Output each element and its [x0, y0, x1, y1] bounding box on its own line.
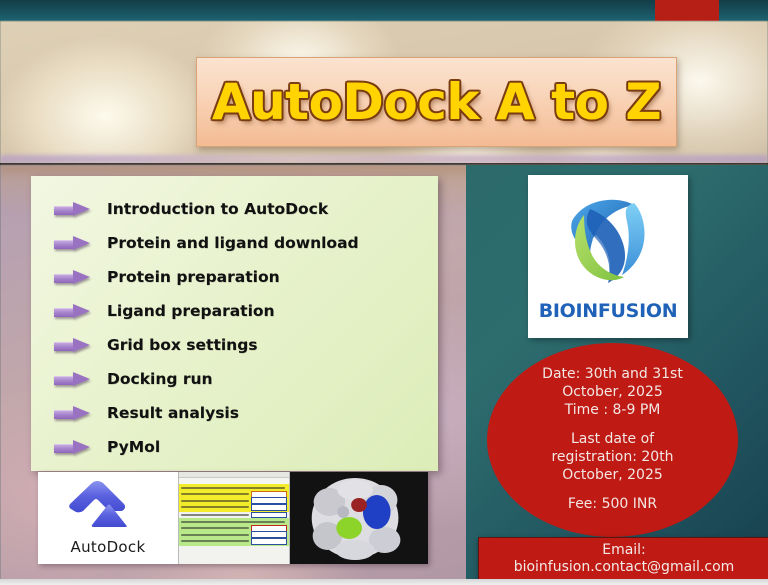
bioinfusion-wordmark: BIOINFUSION: [528, 300, 688, 322]
arrow-right-icon: [54, 202, 90, 217]
list-item: Ligand preparation: [31, 294, 438, 328]
agenda-item-label: Protein preparation: [107, 268, 280, 286]
protein-surface-svg: [290, 472, 428, 564]
bioinfusion-logo: BIOINFUSION: [528, 175, 688, 338]
grid-options-dialog-screenshot: [178, 472, 290, 564]
title-banner: AutoDock A to Z: [196, 57, 677, 147]
agenda-item-label: Introduction to AutoDock: [107, 200, 328, 218]
event-details-circle: Date: 30th and 31st October, 2025 Time :…: [487, 343, 738, 537]
email-label: Email:: [602, 542, 646, 560]
bioinfusion-leaf-icon: [550, 185, 666, 297]
agenda-item-label: Ligand preparation: [107, 302, 275, 320]
autodock-chevron-icon: [64, 478, 152, 528]
arrow-right-icon: [54, 270, 90, 285]
arrow-right-icon: [54, 372, 90, 387]
top-accent-red-block: [655, 0, 719, 21]
page-title: AutoDock A to Z: [212, 77, 661, 127]
agenda-item-label: Protein and ligand download: [107, 234, 359, 252]
event-fee: Fee: 500 INR: [568, 496, 657, 514]
poster-canvas: AutoDock A to Z Introduction to AutoDock…: [0, 0, 768, 585]
list-item: Grid box settings: [31, 328, 438, 362]
agenda-item-label: Docking run: [107, 370, 213, 388]
autodock-logo: AutoDock: [38, 472, 178, 564]
email-address[interactable]: bioinfusion.contact@gmail.com: [514, 559, 735, 577]
list-item: Introduction to AutoDock: [31, 192, 438, 226]
list-item: PyMol: [31, 430, 438, 464]
arrow-right-icon: [54, 440, 90, 455]
list-item: Protein preparation: [31, 260, 438, 294]
event-schedule: Date: 30th and 31st October, 2025 Time :…: [542, 366, 683, 420]
agenda-panel: Introduction to AutoDock Protein and lig…: [31, 176, 438, 471]
protein-surface-image: [290, 472, 428, 564]
list-item: Docking run: [31, 362, 438, 396]
top-accent-bar: [0, 0, 768, 21]
contact-banner[interactable]: Email: bioinfusion.contact@gmail.com: [478, 537, 768, 581]
agenda-item-label: PyMol: [107, 438, 160, 456]
arrow-right-icon: [54, 406, 90, 421]
agenda-list: Introduction to AutoDock Protein and lig…: [31, 176, 438, 464]
list-item: Protein and ligand download: [31, 226, 438, 260]
arrow-right-icon: [54, 338, 90, 353]
software-screenshot-strip: AutoDock: [38, 472, 428, 564]
registration-deadline: Last date of registration: 20th October,…: [551, 431, 673, 485]
agenda-item-label: Grid box settings: [107, 336, 258, 354]
autodock-caption: AutoDock: [38, 538, 178, 556]
bottom-edge: [0, 579, 768, 585]
list-item: Result analysis: [31, 396, 438, 430]
arrow-right-icon: [54, 236, 90, 251]
agenda-item-label: Result analysis: [107, 404, 239, 422]
arrow-right-icon: [54, 304, 90, 319]
